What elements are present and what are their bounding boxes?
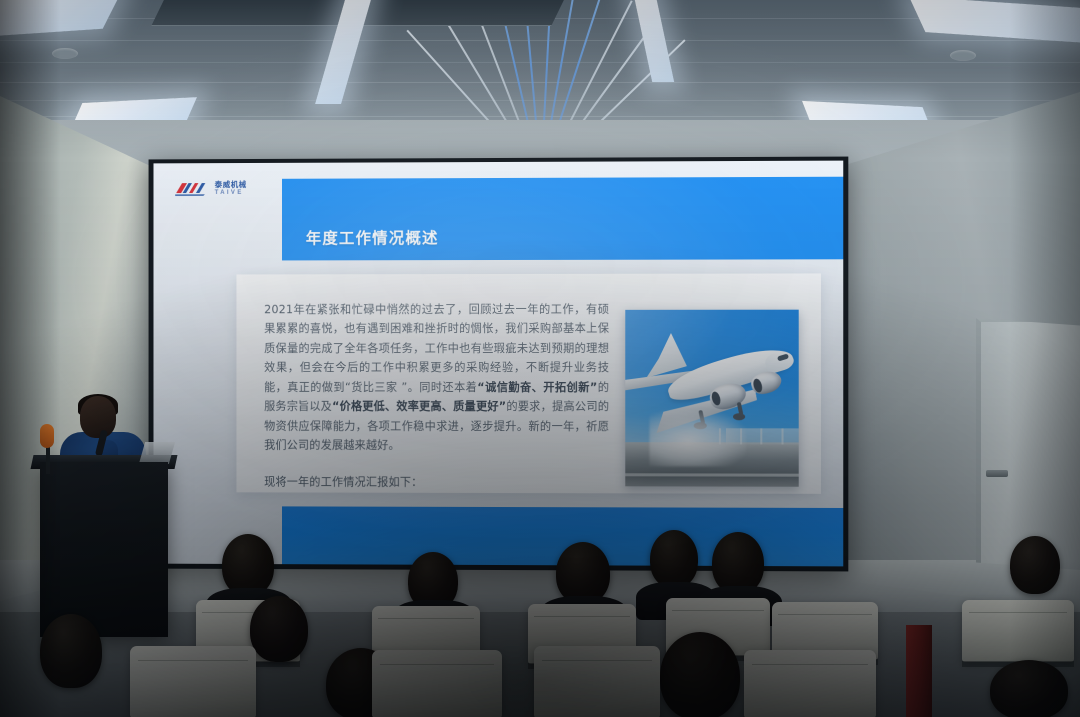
- audience-chair[interactable]: [130, 646, 256, 717]
- taive-logo-mark: [175, 181, 209, 196]
- slide-paragraph-1: 2021年在紧张和忙碌中悄然的过去了，回顾过去一年的工作，有硕果累累的喜悦，也有…: [264, 300, 609, 456]
- side-bench-rail: [906, 625, 932, 717]
- presentation-slide: 年度工作情况概述 泰威机械 TAIVE 2021年在: [153, 161, 843, 567]
- slide-content-card: 2021年在紧张和忙碌中悄然的过去了，回顾过去一年的工作，有硕果累累的喜悦，也有…: [236, 273, 821, 493]
- audience-head: [222, 534, 274, 596]
- logo-company-name-en: TAIVE: [215, 190, 247, 196]
- podium: [40, 462, 168, 637]
- audience-head: [660, 632, 740, 717]
- slide-paragraph-2: 现将一年的工作情况汇报如下：: [264, 472, 609, 492]
- conference-room-photo: 年度工作情况概述 泰威机械 TAIVE 2021年在: [0, 0, 1080, 717]
- audience-head: [556, 542, 610, 604]
- ceiling-light-panel: [909, 0, 1080, 44]
- room-door[interactable]: [976, 318, 1080, 570]
- gooseneck-mic-head-icon: [40, 424, 54, 448]
- audience-chair[interactable]: [744, 650, 876, 717]
- audience-head: [650, 530, 698, 588]
- slide-body-text: 2021年在紧张和忙碌中悄然的过去了，回顾过去一年的工作，有硕果累累的喜悦，也有…: [236, 274, 619, 494]
- door-handle-icon[interactable]: [986, 470, 1008, 477]
- airplane-photo: [625, 310, 798, 487]
- audience-head: [40, 614, 102, 688]
- ceiling-light-panel: [632, 0, 674, 82]
- podium-laptop[interactable]: [139, 442, 175, 464]
- audience-chair[interactable]: [372, 650, 502, 717]
- ceiling-light-panel: [0, 0, 123, 39]
- smoke-detector: [52, 48, 78, 59]
- audience-chair[interactable]: [962, 600, 1074, 662]
- smoke-detector: [950, 50, 976, 61]
- presenter-head: [80, 396, 116, 438]
- audience-chair[interactable]: [534, 646, 660, 717]
- audience-head: [1010, 536, 1060, 594]
- audience-head: [990, 660, 1068, 717]
- slide-header-band: 年度工作情况概述: [282, 177, 843, 261]
- slide-title: 年度工作情况概述: [306, 226, 439, 248]
- logo-company-name-cn: 泰威机械: [215, 181, 247, 189]
- company-logo: 泰威机械 TAIVE: [175, 181, 247, 196]
- audience-head: [712, 532, 764, 594]
- slide-figure: [619, 273, 821, 493]
- audience-head: [250, 596, 308, 662]
- projection-screen[interactable]: 年度工作情况概述 泰威机械 TAIVE 2021年在: [149, 157, 849, 572]
